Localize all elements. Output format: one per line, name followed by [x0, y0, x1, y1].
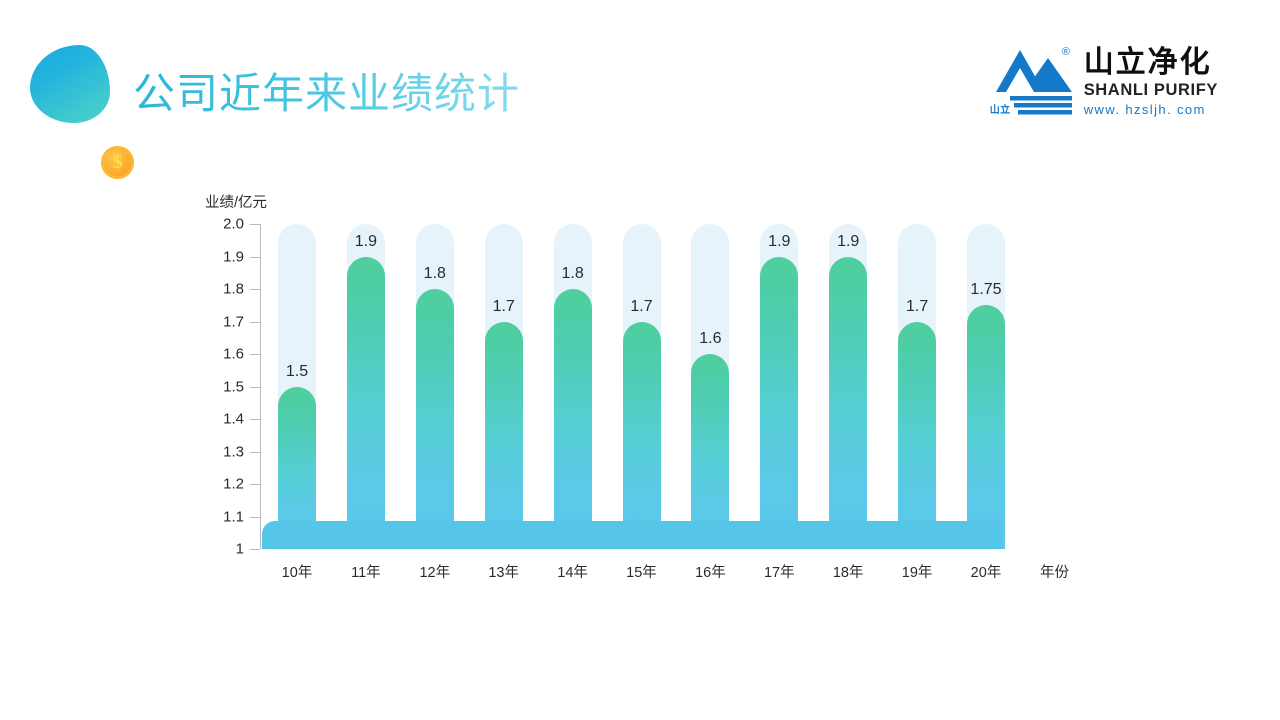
- x-axis-tick-label: 19年: [882, 561, 952, 582]
- x-axis-tick-label: 16年: [675, 561, 745, 582]
- x-axis-tick-label: 15年: [607, 561, 677, 582]
- y-axis-tick: [250, 354, 260, 355]
- bar[interactable]: [554, 289, 592, 549]
- y-axis-tick: [250, 224, 260, 225]
- y-axis-tick: [250, 387, 260, 388]
- bar[interactable]: [967, 305, 1005, 549]
- y-axis-tick: [250, 549, 260, 550]
- bar-value-label: 1.9: [336, 233, 396, 251]
- bar-value-label: 1.75: [956, 281, 1016, 299]
- bar-value-label: 1.9: [749, 233, 809, 251]
- bar[interactable]: [416, 289, 454, 549]
- bar[interactable]: [485, 322, 523, 550]
- y-axis-tick: [250, 484, 260, 485]
- bar[interactable]: [623, 322, 661, 550]
- bar-value-label: 1.6: [680, 330, 740, 348]
- bar[interactable]: [691, 354, 729, 549]
- y-axis-tick: [250, 322, 260, 323]
- x-axis-tick-label: 18年: [813, 561, 883, 582]
- y-axis-tick: [250, 289, 260, 290]
- bar[interactable]: [829, 257, 867, 550]
- y-axis-tick: [250, 419, 260, 420]
- chart-baseline: [262, 521, 1001, 549]
- bar[interactable]: [347, 257, 385, 550]
- x-axis-tick-label: 14年: [538, 561, 608, 582]
- bar-value-label: 1.8: [405, 265, 465, 283]
- x-axis-tick-label: 20年: [951, 561, 1021, 582]
- y-axis-tick: [250, 517, 260, 518]
- performance-bar-chart: 业绩/亿元 年份 2.01.91.81.71.61.51.41.31.21.11…: [0, 0, 1280, 720]
- bar-value-label: 1.8: [543, 265, 603, 283]
- bar-value-label: 1.5: [267, 363, 327, 381]
- bar-value-label: 1.9: [818, 233, 878, 251]
- y-axis-tick: [250, 452, 260, 453]
- bar[interactable]: [760, 257, 798, 550]
- bar-series: 1.51.91.81.71.81.71.61.91.91.71.75: [0, 0, 1280, 720]
- bar-value-label: 1.7: [612, 298, 672, 316]
- x-axis-tick-label: 13年: [469, 561, 539, 582]
- x-axis-tick-label: 11年: [331, 561, 401, 582]
- bar-value-label: 1.7: [887, 298, 947, 316]
- x-axis-tick-label: 12年: [400, 561, 470, 582]
- y-axis-tick: [250, 257, 260, 258]
- bar[interactable]: [898, 322, 936, 550]
- bar-value-label: 1.7: [474, 298, 534, 316]
- x-axis-tick-label: 17年: [744, 561, 814, 582]
- x-axis-tick-label: 10年: [262, 561, 332, 582]
